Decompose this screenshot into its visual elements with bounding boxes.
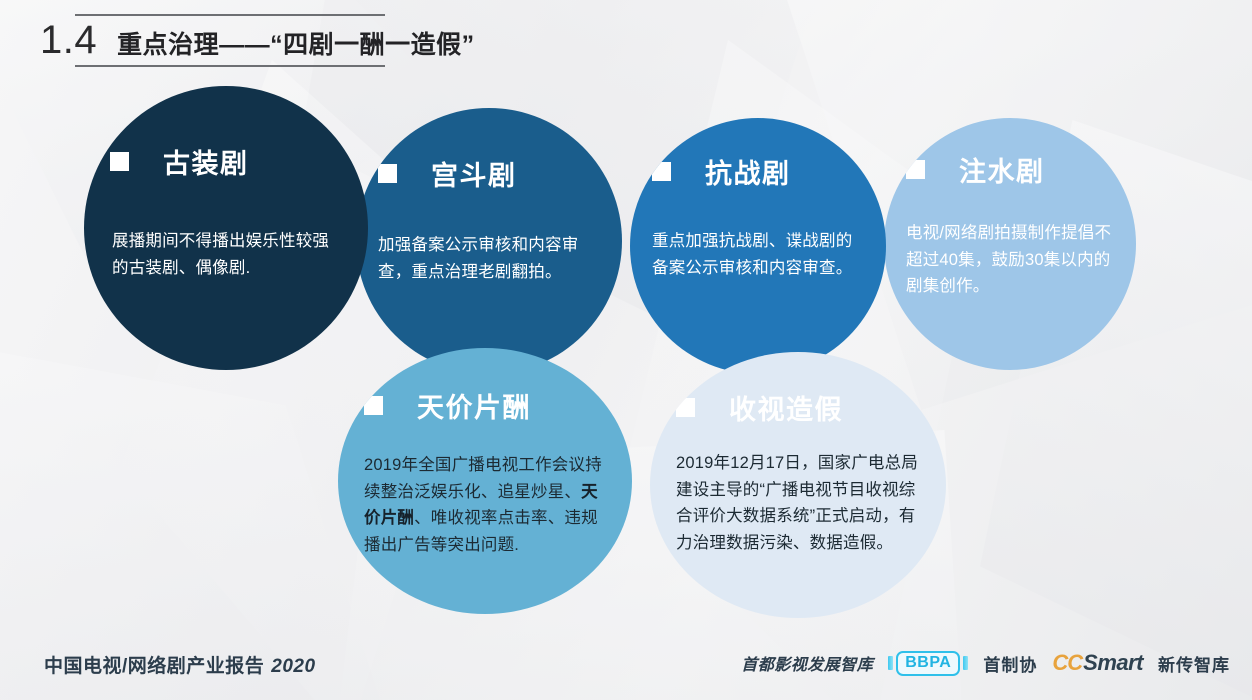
- ccsmart-cn-label: 新传智库: [1158, 651, 1230, 676]
- topic-title: 古装剧: [163, 142, 249, 181]
- topic-title: 收视造假: [729, 388, 843, 427]
- topic-body: 电视/网络剧拍摄制作提倡不超过40集，鼓励30集以内的剧集创作。: [884, 220, 1136, 300]
- topic-body: 2019年全国广播电视工作会议持续整治泛娱乐化、追星炒星、天价片酬、唯收视率点击…: [338, 452, 632, 559]
- section-title: 重点治理——“四剧一酬一造假”: [117, 33, 475, 58]
- slide-canvas: 1.4 重点治理——“四剧一酬一造假” 古装剧 展播期间不得播出娱乐性较强的古装…: [0, 0, 1252, 700]
- topic-header: 天价片酬: [364, 386, 531, 425]
- bbpa-tick-icon: [963, 656, 968, 670]
- topic-body-part1: 2019年全国广播电视工作会议持续整治泛娱乐化、追星炒星、: [364, 456, 602, 501]
- topic-body: 重点加强抗战剧、谍战剧的备案公示审核和内容审查。: [630, 228, 886, 281]
- topic-circle-tianjiapianchou[interactable]: 天价片酬 2019年全国广播电视工作会议持续整治泛娱乐化、追星炒星、天价片酬、唯…: [338, 348, 632, 614]
- bbpa-label: BBPA: [905, 654, 951, 671]
- topic-body: 2019年12月17日，国家广电总局建设主导的“广播电视节目收视综合评价大数据系…: [650, 450, 946, 557]
- square-bullet-icon: [906, 160, 925, 179]
- topic-title: 注水剧: [959, 150, 1045, 189]
- topic-title: 宫斗剧: [431, 154, 517, 193]
- topic-header: 注水剧: [906, 150, 1045, 189]
- square-bullet-icon: [652, 162, 671, 181]
- square-bullet-icon: [676, 398, 695, 417]
- topic-body: 加强备案公示审核和内容审查，重点治理老剧翻拍。: [356, 232, 622, 285]
- topic-circle-zhushuiju[interactable]: 注水剧 电视/网络剧拍摄制作提倡不超过40集，鼓励30集以内的剧集创作。: [884, 118, 1136, 370]
- topic-title: 天价片酬: [417, 386, 531, 425]
- ccsmart-smart: Smart: [1083, 650, 1143, 676]
- topic-circle-gongdouju[interactable]: 宫斗剧 加强备案公示审核和内容审查，重点治理老剧翻拍。: [356, 108, 622, 374]
- topic-circle-kangzhanju[interactable]: 抗战剧 重点加强抗战剧、谍战剧的备案公示审核和内容审查。: [630, 118, 886, 374]
- report-year: 2020: [271, 656, 315, 677]
- page-title: 1.4 重点治理——“四剧一酬一造假”: [40, 16, 600, 62]
- footer-logos: 首都影视发展智库 BBPA 首制协 CCSmart 新传智库: [741, 650, 1230, 676]
- topic-header: 抗战剧: [652, 152, 791, 191]
- topic-header: 宫斗剧: [378, 154, 517, 193]
- topic-body: 展播期间不得播出娱乐性较强的古装剧、偶像剧.: [84, 228, 368, 281]
- topic-circle-shoushizaojia[interactable]: 收视造假 2019年12月17日，国家广电总局建设主导的“广播电视节目收视综合评…: [650, 352, 946, 618]
- square-bullet-icon: [378, 164, 397, 183]
- title-rule-bottom: [75, 65, 385, 67]
- section-number: 1.4: [40, 20, 97, 60]
- slide-title-block: 1.4 重点治理——“四剧一酬一造假”: [40, 14, 600, 67]
- report-name: 中国电视/网络剧产业报告: [44, 656, 264, 677]
- ccsmart-logo: CCSmart: [1052, 650, 1143, 676]
- ccsmart-cc: CC: [1052, 650, 1082, 676]
- topic-header: 古装剧: [110, 142, 249, 181]
- topic-circle-guzhuangju[interactable]: 古装剧 展播期间不得播出娱乐性较强的古装剧、偶像剧.: [84, 86, 368, 370]
- topic-header: 收视造假: [676, 388, 843, 427]
- topic-title: 抗战剧: [705, 152, 791, 191]
- footer-report-title: 中国电视/网络剧产业报告2020: [44, 651, 316, 678]
- bbpa-logo: BBPA: [888, 651, 968, 676]
- footer-think-tank-label: 首都影视发展智库: [741, 651, 873, 675]
- square-bullet-icon: [364, 396, 383, 415]
- bbpa-box: BBPA: [896, 651, 960, 676]
- square-bullet-icon: [110, 152, 129, 171]
- bbpa-cn-label: 首制协: [983, 651, 1037, 676]
- bbpa-tick-icon: [888, 656, 893, 670]
